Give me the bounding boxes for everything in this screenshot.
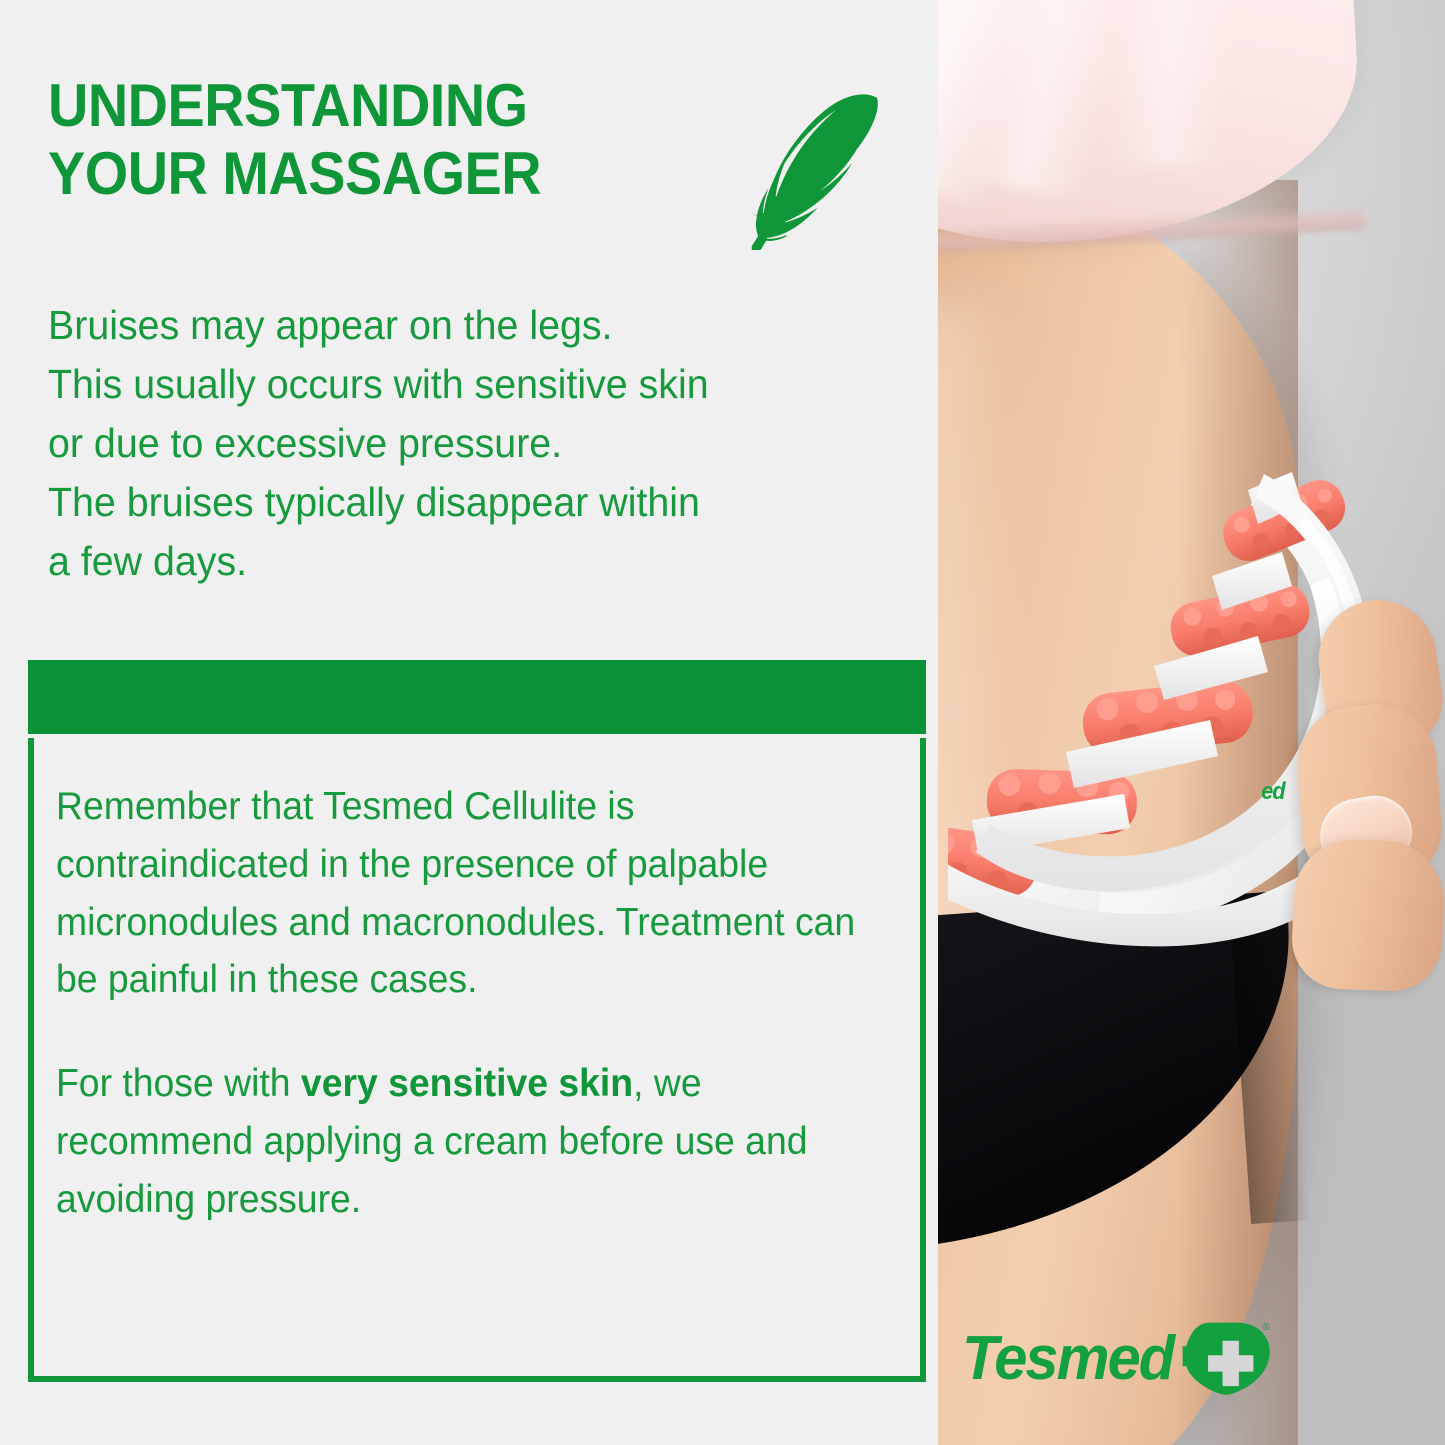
callout-body: Remember that Tesmed Cellulite is contra… xyxy=(34,738,920,1228)
product-photo: ed Tesmed ® xyxy=(938,0,1445,1445)
product-info-card: UNDERSTANDING YOUR MASSAGER Bruises may … xyxy=(0,0,1445,1445)
page-title: UNDERSTANDING YOUR MASSAGER xyxy=(48,72,541,209)
callout-box: Remember that Tesmed Cellulite is contra… xyxy=(28,660,926,1382)
svg-text:®: ® xyxy=(1262,1322,1270,1333)
finger xyxy=(1290,837,1445,992)
medical-cross-badge-icon: ® xyxy=(1182,1319,1274,1397)
callout-paragraph-2-pre: For those with xyxy=(56,1062,301,1105)
left-text-panel: UNDERSTANDING YOUR MASSAGER Bruises may … xyxy=(0,0,938,1445)
intro-paragraph: Bruises may appear on the legs. This usu… xyxy=(48,296,883,591)
device-brand-print: ed xyxy=(1261,778,1284,806)
hand-holding-device xyxy=(1293,600,1445,960)
fabric-fold xyxy=(1110,0,1232,168)
brand-logo: Tesmed ® xyxy=(962,1319,1274,1397)
header-row: UNDERSTANDING YOUR MASSAGER xyxy=(48,72,908,250)
brand-wordmark: Tesmed xyxy=(962,1323,1173,1394)
callout-emphasis: very sensitive skin xyxy=(301,1062,633,1105)
callout-header-bar xyxy=(28,660,926,738)
feather-icon xyxy=(730,80,900,250)
callout-paragraph-2: For those with very sensitive skin, we r… xyxy=(56,1055,865,1228)
pink-tshirt xyxy=(938,0,1365,254)
callout-paragraph-1: Remember that Tesmed Cellulite is contra… xyxy=(56,778,865,1009)
